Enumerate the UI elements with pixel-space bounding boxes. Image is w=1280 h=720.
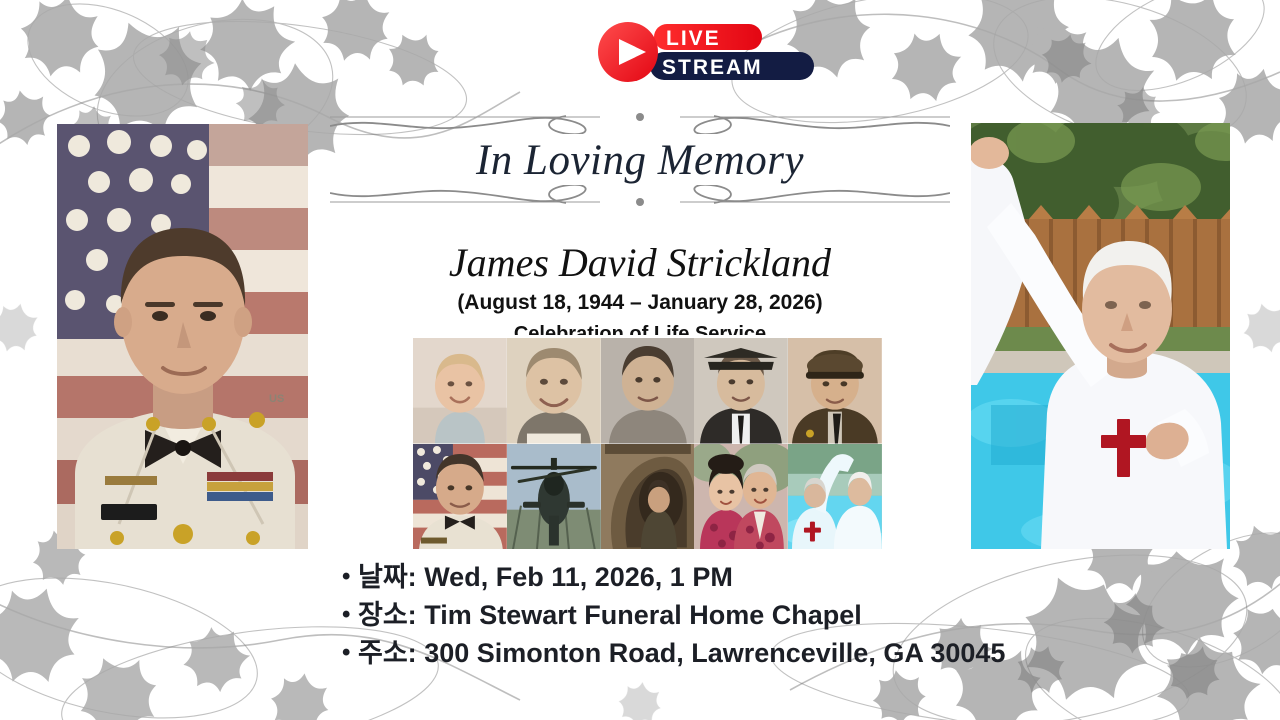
detail-value-address: 300 Simonton Road, Lawrenceville, GA 300… bbox=[424, 638, 1005, 668]
detail-label-address: 주소: bbox=[358, 638, 417, 668]
deceased-dates: (August 18, 1944 – January 28, 2026) bbox=[330, 291, 950, 315]
detail-value-date: Wed, Feb 11, 2026, 1 PM bbox=[424, 562, 733, 592]
logo-live-text: LIVE bbox=[666, 27, 721, 50]
svg-text:US: US bbox=[269, 393, 284, 405]
helicopter-photo bbox=[507, 444, 601, 550]
memorial-slide: LIVE STREAM bbox=[0, 0, 1280, 720]
couple-kimono-photo bbox=[694, 444, 788, 550]
baby-photo bbox=[413, 338, 507, 444]
officer-flag-photo bbox=[413, 444, 507, 550]
young-boy-photo bbox=[507, 338, 601, 444]
detail-label-venue: 장소: bbox=[358, 600, 417, 630]
detail-line-address: •주소: 300 Simonton Road, Lawrenceville, G… bbox=[342, 636, 1242, 670]
helicopter-cockpit-photo bbox=[601, 444, 695, 550]
bullet-icon: • bbox=[342, 598, 358, 632]
army-uniform-photo bbox=[788, 338, 882, 444]
divider-bottom bbox=[330, 185, 950, 207]
page-title: In Loving Memory bbox=[330, 138, 950, 183]
detail-value-venue: Tim Stewart Funeral Home Chapel bbox=[424, 600, 862, 630]
detail-line-date: •날짜: Wed, Feb 11, 2026, 1 PM bbox=[342, 560, 1242, 594]
detail-line-venue: •장소: Tim Stewart Funeral Home Chapel bbox=[342, 598, 1242, 632]
service-subtitle-occluded: Celebration of Life Service bbox=[330, 323, 950, 335]
baptism-group-photo bbox=[788, 444, 882, 550]
baptism-photo bbox=[971, 123, 1230, 549]
life-collage-photo bbox=[413, 338, 882, 549]
memorial-text-block: In Loving Memory James David Strickland … bbox=[330, 112, 950, 335]
bullet-icon: • bbox=[342, 560, 358, 594]
deceased-name: James David Strickland bbox=[330, 241, 950, 285]
bullet-icon: • bbox=[342, 636, 358, 670]
logo-stream-text: STREAM bbox=[662, 56, 763, 79]
graduation-photo bbox=[694, 338, 788, 444]
event-details-list: •날짜: Wed, Feb 11, 2026, 1 PM •장소: Tim St… bbox=[342, 560, 1242, 674]
detail-label-date: 날짜: bbox=[358, 562, 417, 592]
live-stream-logo: LIVE STREAM bbox=[588, 18, 828, 86]
divider-top bbox=[330, 112, 950, 134]
teenager-photo bbox=[601, 338, 695, 444]
military-portrait-photo: US bbox=[57, 124, 308, 549]
